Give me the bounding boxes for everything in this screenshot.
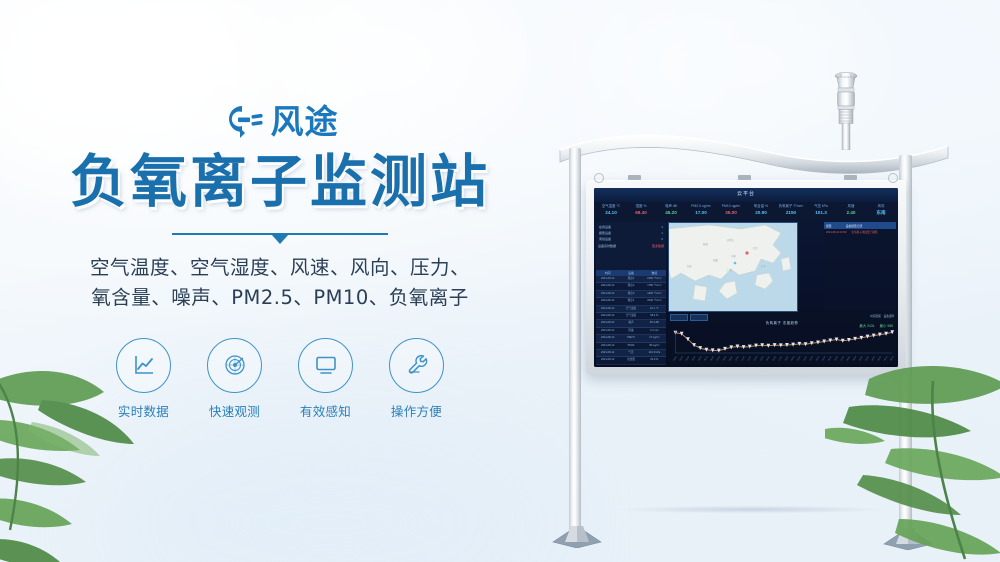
decorative-leaves-left <box>0 322 201 562</box>
poster-canvas: 风途 负氧离子监测站 空气温度、空气湿度、风速、风向、压力、 氧含量、噪声、PM… <box>0 0 1000 562</box>
table-cell: 1630 个/cm³ <box>643 291 666 297</box>
filter-time-range[interactable] <box>670 314 688 321</box>
support-post-left <box>569 148 581 536</box>
svg-text:06:00: 06:00 <box>711 356 715 361</box>
feature-item-easy-operation: 操作方便 <box>386 338 448 420</box>
table-cell: 氧含量 <box>619 357 642 363</box>
kpi-item: PM10 ug/m³35.00 <box>716 203 746 219</box>
monitor-icon <box>313 352 339 378</box>
svg-text:23:00: 23:00 <box>816 356 820 361</box>
page-title: 负氧离子监测站 <box>0 152 560 214</box>
svg-text:广西: 广西 <box>727 268 732 272</box>
svg-text:01:00: 01:00 <box>680 356 684 361</box>
table-cell: 2021-08-12 11:09:05 <box>596 357 619 363</box>
kpi-item: 风速2.40 <box>836 203 866 219</box>
kpi-value: 101.3 <box>806 209 836 216</box>
svg-text:14:00: 14:00 <box>760 356 764 361</box>
feature-item-fast-observation: 快速观测 <box>204 338 266 420</box>
kpi-value: 35.00 <box>716 209 746 216</box>
alert-text: 设备报警记录 <box>846 224 863 228</box>
svg-text:21:00: 21:00 <box>803 356 807 361</box>
table-row[interactable]: 2021-08-12 11:20:05测点12150 个/cm³ <box>596 276 666 283</box>
table-cell: 测点1 <box>619 298 642 304</box>
radar-icon <box>222 352 248 378</box>
kpi-item: 湿度 %68.40 <box>626 203 656 219</box>
brand-name: 风途 <box>271 105 339 138</box>
kpi-value: 45.20 <box>656 209 686 216</box>
table-cell: 测点2 <box>619 283 642 289</box>
base-plate-left <box>549 526 605 553</box>
table-cell: 2021-08-12 11:11:05 <box>596 343 619 349</box>
svg-text:04:00: 04:00 <box>698 356 702 361</box>
svg-text:00:00: 00:00 <box>673 356 677 361</box>
table-cell: 45.2 dB <box>643 320 666 326</box>
svg-text:13:00: 13:00 <box>754 356 758 361</box>
table-cell: 2021-08-12 11:13:05 <box>596 328 619 334</box>
svg-text:17:00: 17:00 <box>779 356 783 361</box>
svg-text:19:00: 19:00 <box>791 356 795 361</box>
filter-device[interactable] <box>690 314 708 321</box>
svg-text:05:00: 05:00 <box>704 356 708 361</box>
svg-text:西藏: 西藏 <box>713 258 718 262</box>
table-cell: 35 ug/m³ <box>643 343 666 349</box>
table-row[interactable]: 2021-08-12 11:16:05空气温度24.1 ℃ <box>596 306 666 313</box>
subtitle-line-2: 氧含量、噪声、PM2.5、PM10、负氧离子 <box>0 283 560 313</box>
feature-ring <box>389 338 444 393</box>
svg-text:16:00: 16:00 <box>772 356 776 361</box>
mount-hook-icon <box>888 173 898 183</box>
table-cell: 2021-08-12 11:16:05 <box>596 306 619 312</box>
counter-value: 0 <box>661 236 663 242</box>
feature-ring <box>207 338 262 393</box>
table-row[interactable]: 2021-08-12 11:10:05气压101.3 kPa <box>596 350 666 357</box>
table-cell: 风速 <box>619 328 642 334</box>
table-cell: 2040 个/cm³ <box>643 298 666 304</box>
svg-text:09:00: 09:00 <box>729 356 733 361</box>
device-counter-row: 离线设备0 <box>599 236 663 242</box>
table-cell: 17 ug/m³ <box>643 335 666 341</box>
table-cell: 2150 个/cm³ <box>643 276 666 282</box>
svg-text:新疆: 新疆 <box>703 242 708 246</box>
svg-text:11:00: 11:00 <box>742 356 746 361</box>
brand-logo: 风途 <box>0 96 560 146</box>
kpi-value: 东南 <box>866 209 896 216</box>
table-cell: 测点1 <box>619 276 642 282</box>
counter-label: 离线设备 <box>599 236 611 242</box>
chart-filters[interactable] <box>670 314 708 321</box>
mount-bracket-icon <box>738 175 751 180</box>
table-row[interactable]: 2021-08-12 11:19:05测点21780 个/cm³ <box>596 283 666 290</box>
feature-label: 有效感知 <box>295 401 357 420</box>
feature-ring <box>298 338 353 393</box>
mount-hook-icon <box>594 173 604 183</box>
table-body: 2021-08-12 11:20:05测点12150 个/cm³2021-08-… <box>596 276 666 365</box>
kpi-item: 噪声 dB45.20 <box>656 203 686 219</box>
wave-canopy <box>558 122 950 178</box>
svg-text:07:00: 07:00 <box>717 356 721 361</box>
table-cell: 噪声 <box>619 320 642 326</box>
svg-text:15:00: 15:00 <box>766 356 770 361</box>
table-cell: 2021-08-12 11:18:05 <box>596 291 619 297</box>
mount-bracket-icon <box>844 175 857 180</box>
table-row[interactable]: 2021-08-12 11:09:05氧含量20.9 % <box>596 357 666 364</box>
table-cell: 101.3 kPa <box>643 350 666 356</box>
svg-text:02:00: 02:00 <box>686 356 690 361</box>
alert-tag: 报警 <box>826 224 832 228</box>
kpi-item: PM2.5 ug/m³17.00 <box>686 203 716 219</box>
china-map[interactable]: 新疆内蒙古 中国北京 西藏广西 印度日本 <box>668 222 798 312</box>
svg-text:08:00: 08:00 <box>723 356 727 361</box>
feature-label: 操作方便 <box>386 401 448 420</box>
chart-filter-label: 时间范围 <box>870 314 880 318</box>
kpi-value: 17.00 <box>686 209 716 216</box>
table-row[interactable]: 2021-08-12 11:14:05噪声45.2 dB <box>596 320 666 327</box>
table-cell: 空气温度 <box>619 306 642 312</box>
table-row[interactable]: 2021-08-12 11:11:05PM1035 ug/m³ <box>596 343 666 350</box>
table-section-badge[interactable]: 更多数据 <box>652 244 664 248</box>
table-cell: 2021-08-12 11:20:05 <box>596 276 619 282</box>
alert-panel: 报警 设备报警记录 2021-08-12 10:52 负氧离子浓度低于阈值 <box>824 222 896 311</box>
subtitle: 空气温度、空气湿度、风速、风向、压力、 氧含量、噪声、PM2.5、PM10、负氧… <box>0 253 560 313</box>
kpi-value: 68.40 <box>626 209 656 216</box>
decorative-leaves-right <box>825 333 1000 562</box>
table-cell: 2021-08-12 11:12:05 <box>596 335 619 341</box>
svg-text:12:00: 12:00 <box>748 356 752 361</box>
kpi-item: 气压 kPa101.3 <box>806 203 836 219</box>
table-cell: 24.1 ℃ <box>643 306 666 312</box>
svg-text:18:00: 18:00 <box>785 356 789 361</box>
svg-text:印度: 印度 <box>687 264 692 268</box>
table-cell: 1780 个/cm³ <box>643 283 666 289</box>
table-cell: 2021-08-12 11:15:05 <box>596 313 619 319</box>
alert-row: 2021-08-12 10:52 负氧离子浓度低于阈值 <box>824 229 896 235</box>
table-row[interactable]: 2021-08-12 11:13:05风速2.4 m/s <box>596 328 666 335</box>
table-cell: 测点3 <box>619 291 642 297</box>
feature-label: 快速观测 <box>204 401 266 420</box>
alert-tag: 2021-08-12 10:52 <box>826 231 846 234</box>
triangle-divider <box>172 230 388 244</box>
kpi-value: 2.40 <box>836 209 866 216</box>
alert-text: 负氧离子浓度低于阈值 <box>851 230 877 234</box>
svg-text:22:00: 22:00 <box>810 356 814 361</box>
alert-row: 报警 设备报警记录 <box>824 222 896 229</box>
table-cell: PM10 <box>619 343 642 349</box>
left-data-panel: 在线设备3报警设备1离线设备0 设备实时数据 更多数据 时间设备数值 2021-… <box>596 222 666 364</box>
feature-item-effective-sensing: 有效感知 <box>295 338 357 420</box>
table-cell: PM2.5 <box>619 335 642 341</box>
kpi-item: 氧含量 %20.90 <box>746 203 776 219</box>
table-row[interactable]: 2021-08-12 11:17:05测点12040 个/cm³ <box>596 298 666 305</box>
table-cell: 20.9 % <box>643 357 666 363</box>
table-cell: 空气湿度 <box>619 313 642 319</box>
svg-text:10:00: 10:00 <box>735 356 739 361</box>
svg-text:内蒙古: 内蒙古 <box>727 238 735 242</box>
table-cell: 2021-08-12 11:10:05 <box>596 350 619 356</box>
svg-text:日本: 日本 <box>761 264 766 268</box>
kpi-item: 负氧离子 个/cm³2150 <box>776 203 806 219</box>
subtitle-line-1: 空气温度、空气湿度、风速、风向、压力、 <box>0 253 560 283</box>
table-cell: 2.4 m/s <box>643 328 666 334</box>
table-row[interactable]: 2021-08-12 11:18:05测点31630 个/cm³ <box>596 291 666 298</box>
kpi-value: 20.90 <box>746 209 776 216</box>
table-row[interactable]: 2021-08-12 11:12:05PM2.517 ug/m³ <box>596 335 666 342</box>
svg-text:20:00: 20:00 <box>797 356 801 361</box>
kpi-value: 24.10 <box>596 209 626 216</box>
svg-text:03:00: 03:00 <box>692 356 696 361</box>
wrench-icon <box>404 352 430 378</box>
divider-triangle-icon <box>271 234 289 244</box>
table-row[interactable]: 2021-08-12 11:15:05空气湿度68.4 % <box>596 313 666 320</box>
table-cell: 2021-08-12 11:14:05 <box>596 320 619 326</box>
svg-text:北京: 北京 <box>753 246 758 250</box>
table-cell: 68.4 % <box>643 313 666 319</box>
chart-filter-label: 设备选择 <box>884 314 894 318</box>
kpi-item: 空气温度 ℃24.10 <box>596 203 626 219</box>
kpi-value: 2150 <box>776 209 806 216</box>
table-cell: 气压 <box>619 350 642 356</box>
kpi-row: 空气温度 ℃24.10湿度 %68.40噪声 dB45.20PM2.5 ug/m… <box>596 203 896 219</box>
device-counters: 在线设备3报警设备1离线设备0 <box>596 222 666 242</box>
table-cell: 2021-08-12 11:19:05 <box>596 283 619 289</box>
kpi-item: 风向东南 <box>866 203 896 219</box>
table-section-title: 设备实时数据 <box>598 244 616 248</box>
fengtu-g-logo-icon <box>222 101 264 141</box>
dashboard-title: 云平台 <box>594 190 898 197</box>
mount-bracket-icon <box>628 175 641 180</box>
svg-text:中国: 中国 <box>731 254 736 258</box>
table-cell: 2021-08-12 11:17:05 <box>596 298 619 304</box>
